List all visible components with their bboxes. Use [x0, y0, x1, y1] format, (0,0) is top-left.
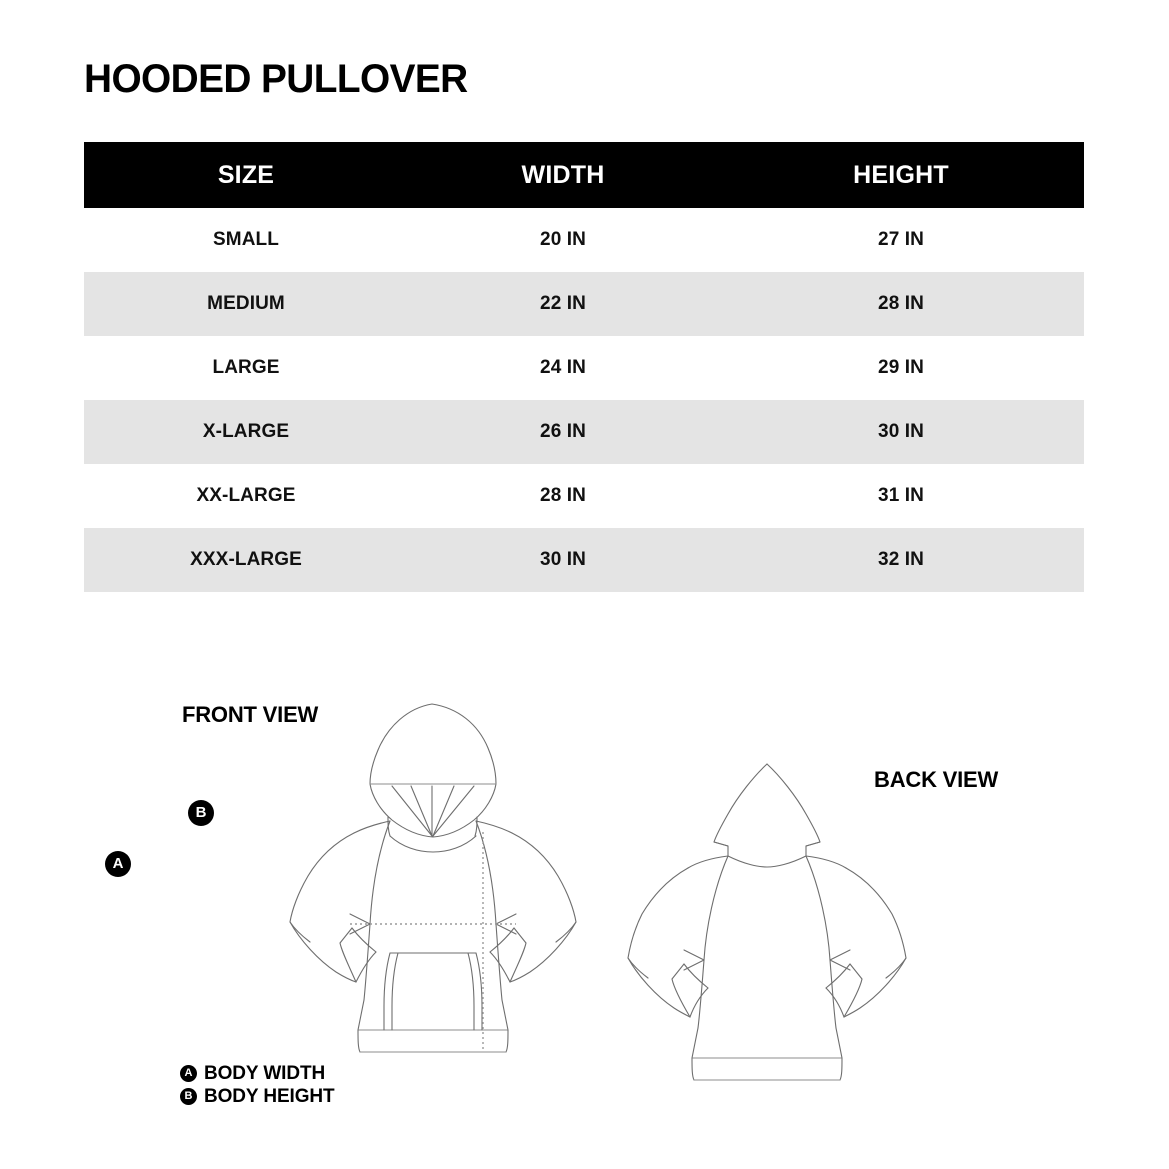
- table-row: LARGE 24 IN 29 IN: [84, 336, 1084, 400]
- table-body: SMALL 20 IN 27 IN MEDIUM 22 IN 28 IN LAR…: [84, 208, 1084, 592]
- back-waistband-right: [840, 1058, 842, 1080]
- legend-badge-b: B: [180, 1088, 197, 1105]
- back-sleeve-right-under: [844, 958, 906, 1017]
- legend-item-body-height: B BODY HEIGHT: [180, 1085, 335, 1108]
- page-title: HOODED PULLOVER: [84, 56, 468, 102]
- sleeve-left-outer: [290, 833, 354, 942]
- cell-height: 29 IN: [718, 336, 1084, 400]
- cell-width: 24 IN: [408, 336, 718, 400]
- collar-right: [475, 817, 477, 836]
- column-header-height: HEIGHT: [718, 142, 1084, 208]
- cuff-right-seam: [514, 928, 526, 943]
- back-sleeve-right-outer: [846, 868, 906, 978]
- legend-badge-a: A: [180, 1065, 197, 1082]
- back-cuff-right-inner: [826, 988, 844, 1017]
- sleeve-right-outer: [512, 833, 576, 942]
- back-cuff-left-inner: [690, 988, 708, 1017]
- table-row: MEDIUM 22 IN 28 IN: [84, 272, 1084, 336]
- back-neck-seam: [728, 856, 806, 867]
- back-cuff-left-outer: [672, 979, 690, 1017]
- hood-back-left: [714, 764, 767, 856]
- cell-size: SMALL: [84, 208, 408, 272]
- cell-size: XXX-LARGE: [84, 528, 408, 592]
- cell-size: LARGE: [84, 336, 408, 400]
- cell-height: 32 IN: [718, 528, 1084, 592]
- back-body-right-flare: [836, 1028, 842, 1058]
- back-cuff-right-seam: [850, 964, 862, 979]
- back-cuff-left-seam: [672, 964, 684, 979]
- cuff-left-seam: [340, 928, 352, 943]
- legend-label-body-width: BODY WIDTH: [204, 1063, 325, 1085]
- cell-width: 28 IN: [408, 464, 718, 528]
- cell-width: 30 IN: [408, 528, 718, 592]
- shoulder-left-edge: [354, 821, 390, 833]
- table-header: SIZE WIDTH HEIGHT: [84, 142, 1084, 208]
- cell-width: 20 IN: [408, 208, 718, 272]
- back-body-left-flare: [692, 1028, 698, 1058]
- pocket-left-opening: [392, 953, 398, 1030]
- back-raglan-seam-left: [698, 856, 728, 1028]
- garment-illustrations: FRONT VIEW BACK VIEW: [0, 640, 1169, 1080]
- measurement-legend: A BODY WIDTH B BODY HEIGHT: [180, 1062, 335, 1108]
- back-raglan-seam-right: [806, 856, 836, 1028]
- column-header-size: SIZE: [84, 142, 408, 208]
- cell-height: 28 IN: [718, 272, 1084, 336]
- pocket-right-edge: [476, 953, 482, 1030]
- hood-fold-line-5: [433, 786, 474, 836]
- cell-size: XX-LARGE: [84, 464, 408, 528]
- shoulder-right-edge: [476, 821, 512, 833]
- back-shoulder-left: [688, 856, 728, 868]
- hood-fold-line-4: [433, 786, 454, 836]
- cell-size: X-LARGE: [84, 400, 408, 464]
- body-right-flare: [502, 1000, 508, 1030]
- table-row: XX-LARGE 28 IN 31 IN: [84, 464, 1084, 528]
- back-waistband-left: [692, 1058, 694, 1080]
- hoodie-back-illustration: [608, 760, 928, 1090]
- marker-badge-b: B: [188, 800, 214, 826]
- marker-badge-a: A: [105, 851, 131, 877]
- legend-item-body-width: A BODY WIDTH: [180, 1062, 335, 1085]
- cell-height: 27 IN: [718, 208, 1084, 272]
- column-header-width: WIDTH: [408, 142, 718, 208]
- body-left-flare: [358, 1000, 364, 1030]
- sleeve-right-under: [510, 922, 576, 982]
- waistband-left: [358, 1030, 360, 1052]
- back-sleeve-left-under: [628, 958, 690, 1017]
- table-row: SMALL 20 IN 27 IN: [84, 208, 1084, 272]
- sleeve-left-under: [290, 922, 356, 982]
- cell-width: 26 IN: [408, 400, 718, 464]
- hood-fold-line-2: [411, 786, 432, 836]
- back-shoulder-right: [806, 856, 846, 868]
- measurement-guides: [350, 832, 516, 1052]
- waistband-right: [506, 1030, 508, 1052]
- cell-height: 30 IN: [718, 400, 1084, 464]
- hood-fold-line-1: [392, 786, 432, 836]
- hood-back-notch-right: [806, 842, 820, 846]
- hood-back-right: [767, 764, 820, 856]
- back-sleeve-left-outer: [628, 868, 688, 978]
- pocket-right-opening: [468, 953, 474, 1030]
- hood-outline: [370, 704, 496, 784]
- collar-bottom: [390, 836, 476, 852]
- hoodie-front-illustration: [280, 700, 600, 1080]
- back-cuff-right-outer: [844, 979, 862, 1017]
- hood-back-notch-left: [714, 842, 728, 846]
- legend-label-body-height: BODY HEIGHT: [204, 1086, 335, 1108]
- pocket-left-edge: [384, 953, 390, 1030]
- size-chart-table: SIZE WIDTH HEIGHT SMALL 20 IN 27 IN MEDI…: [84, 142, 1084, 592]
- table-row: X-LARGE 26 IN 30 IN: [84, 400, 1084, 464]
- cell-width: 22 IN: [408, 272, 718, 336]
- table-header-row: SIZE WIDTH HEIGHT: [84, 142, 1084, 208]
- cell-height: 31 IN: [718, 464, 1084, 528]
- table-row: XXX-LARGE 30 IN 32 IN: [84, 528, 1084, 592]
- cell-size: MEDIUM: [84, 272, 408, 336]
